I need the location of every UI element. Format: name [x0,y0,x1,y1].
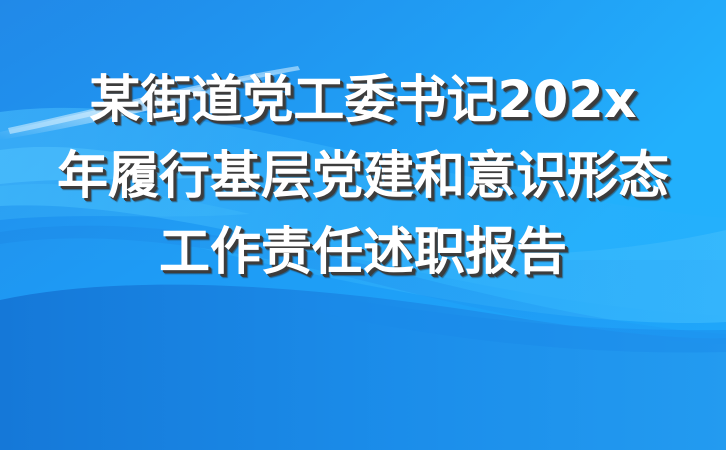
title-line-3: 工作责任述职报告 [159,215,567,291]
title-slide: 某街道党工委书记202x 年履行基层党建和意识形态 工作责任述职报告 [0,0,726,450]
slide-title: 某街道党工委书记202x 年履行基层党建和意识形态 工作责任述职报告 [0,0,726,450]
title-line-2: 年履行基层党建和意识形态 [57,139,669,215]
title-line-1: 某街道党工委书记202x [89,63,636,139]
